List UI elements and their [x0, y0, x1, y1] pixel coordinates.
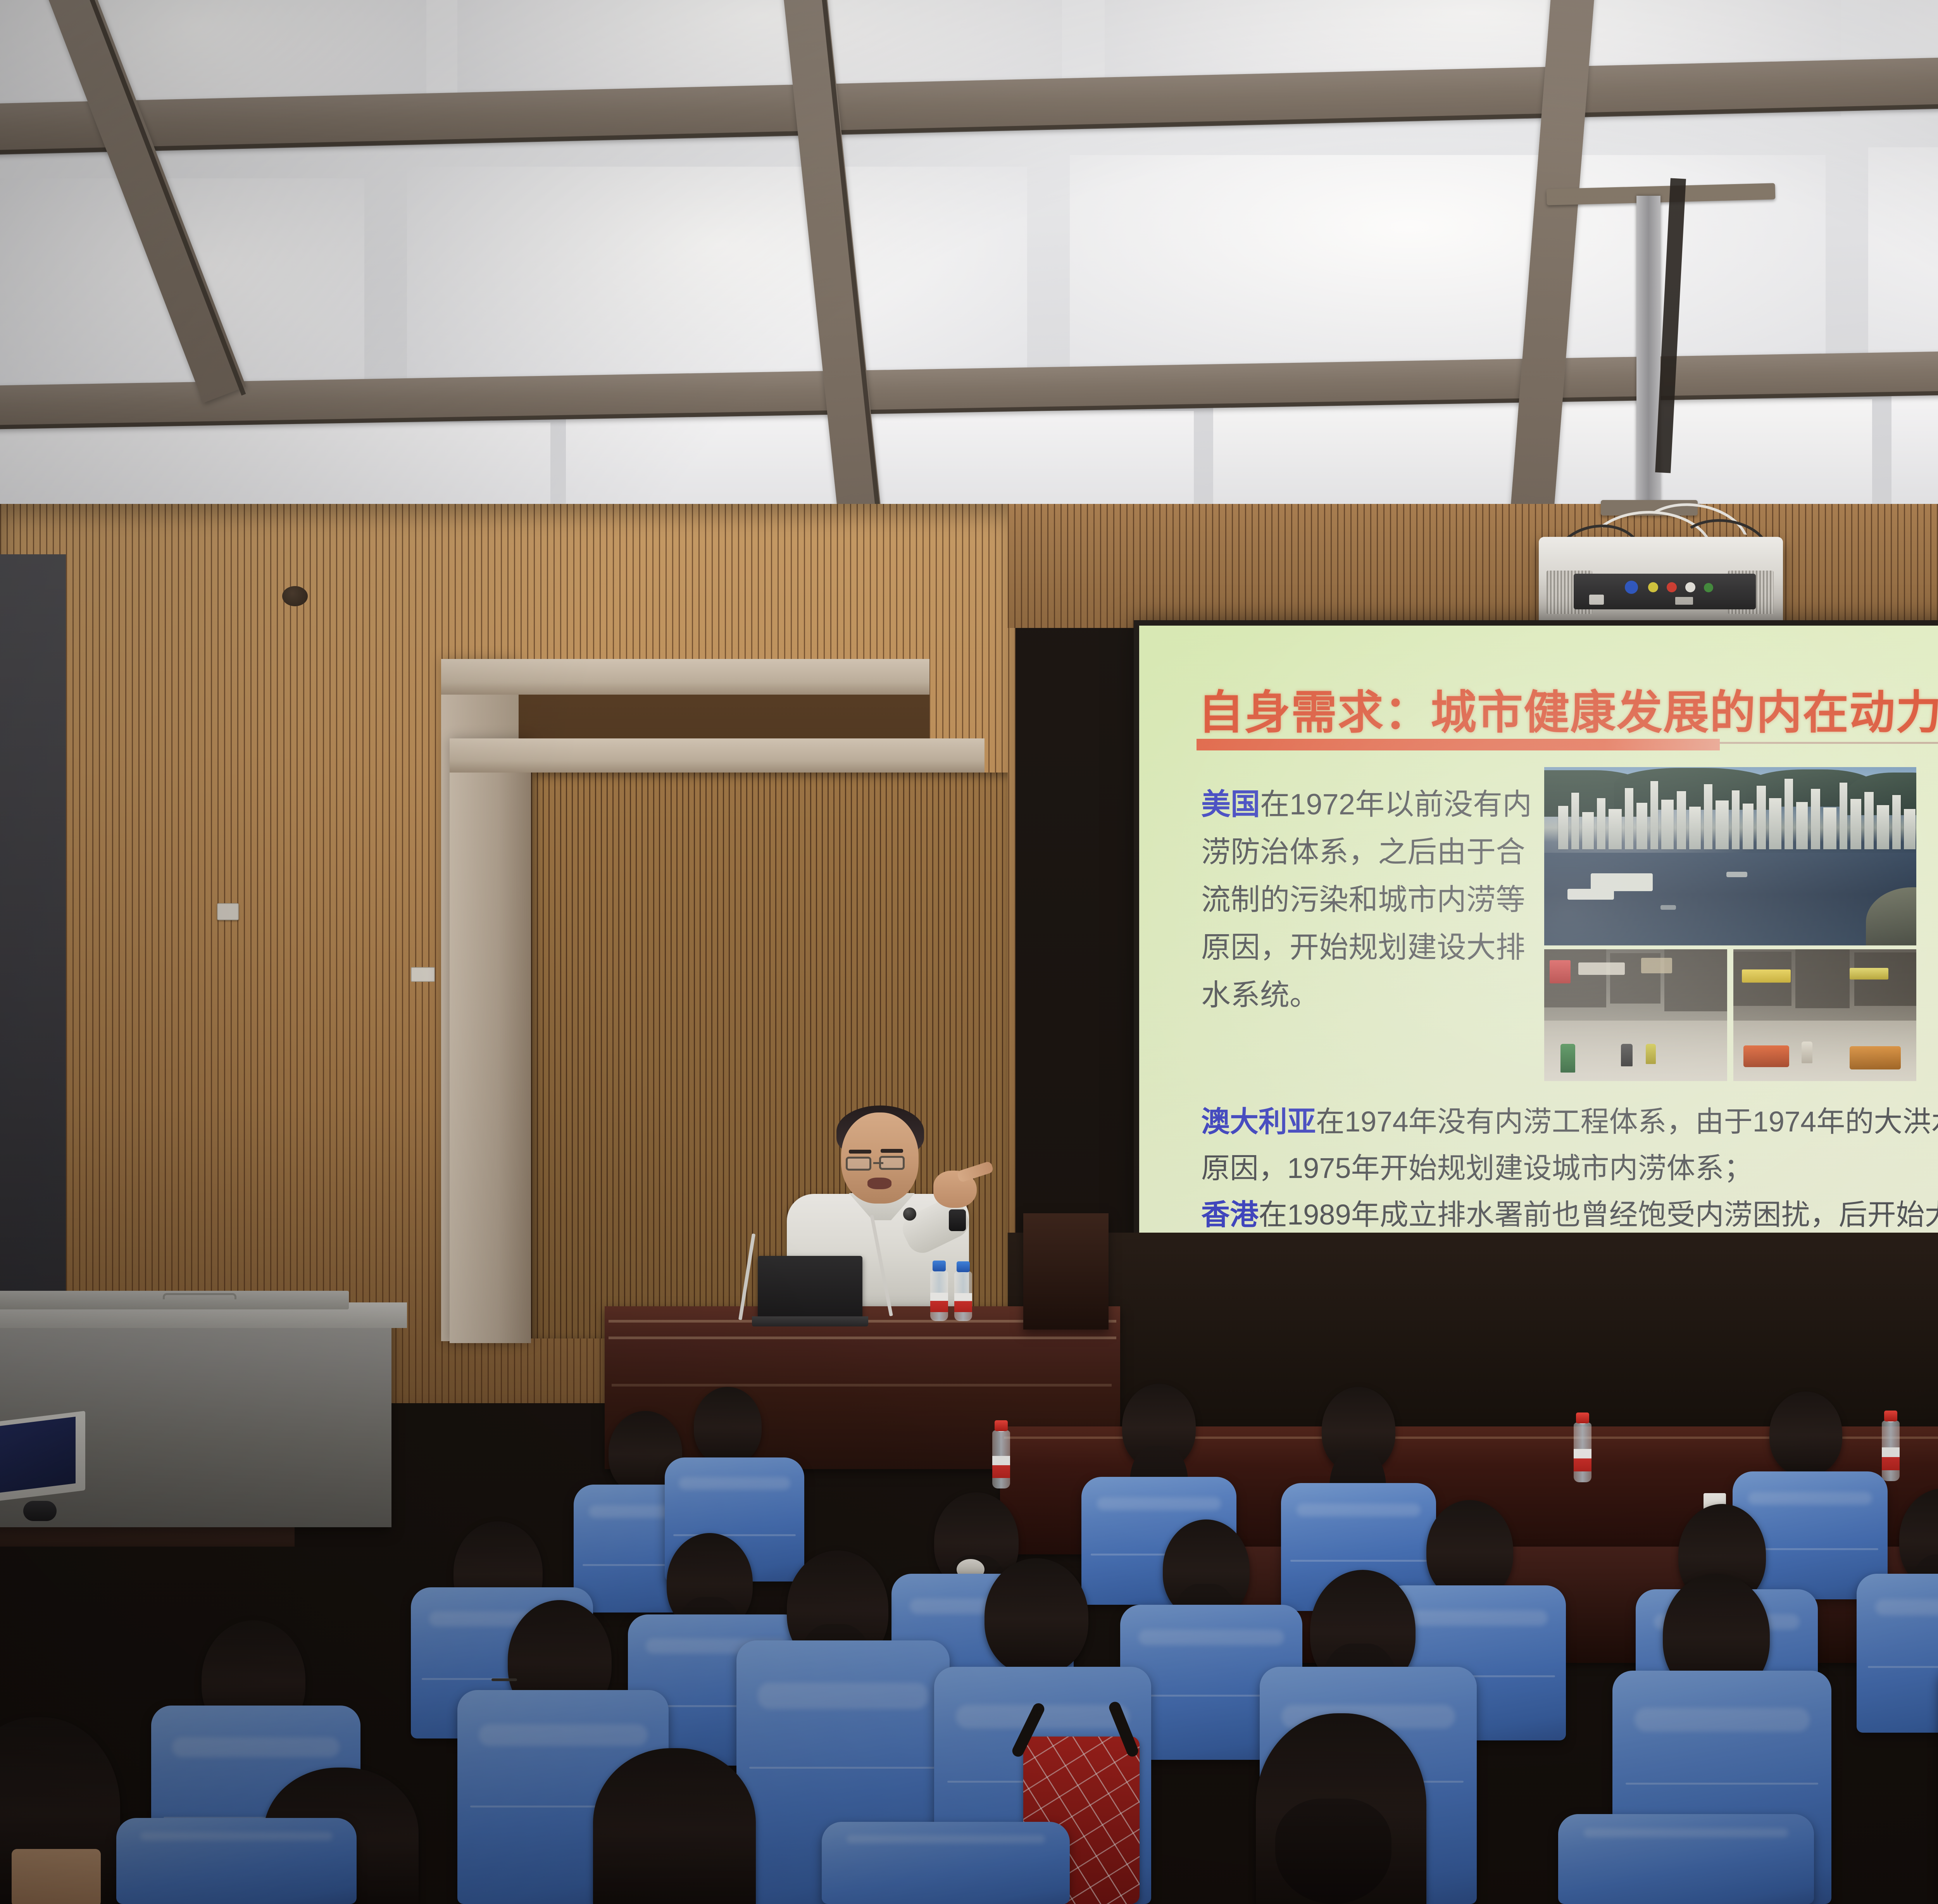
audience-chair-foreground — [1558, 1814, 1814, 1904]
slide-image-collage — [1544, 767, 1916, 1081]
wall-panel-center-top — [1008, 504, 1938, 628]
projector-port-vga — [1625, 581, 1638, 594]
projector-port-rca — [1704, 583, 1713, 592]
presenter-index-finger — [957, 1161, 994, 1183]
presenter-bottle-1 — [930, 1271, 948, 1321]
slide-title-underline — [1197, 739, 1720, 750]
eyeglasses-bridge — [873, 1162, 883, 1164]
audience-head — [985, 1558, 1088, 1675]
wall-speaker-icon — [282, 586, 308, 606]
lintel-screen-left — [450, 738, 985, 773]
audience-neck-foreground — [12, 1849, 101, 1904]
audience-bottle-3 — [1574, 1423, 1591, 1482]
projector-port-video — [1667, 582, 1677, 592]
column-screen-left — [450, 738, 531, 1343]
hong-kong-harbour-skyline-image — [1544, 767, 1916, 945]
audience-chair-foreground — [822, 1822, 1070, 1904]
slide-paragraph-1: 美国在1972年以前没有内涝防治体系，之后由于合流制的污染和城市内涝等原因，开始… — [1201, 781, 1538, 1019]
console-laptop-screen — [0, 1417, 76, 1494]
presenter-mouth — [867, 1178, 891, 1189]
console-handle[interactable] — [163, 1293, 236, 1299]
microphone-head — [903, 1207, 916, 1221]
projector-port-svideo — [1685, 582, 1695, 592]
light-switch-icon[interactable] — [411, 967, 435, 982]
presenter-laptop-base — [752, 1316, 868, 1326]
audience-hair-foreground — [1275, 1799, 1391, 1904]
presenter-brow-right — [881, 1149, 903, 1153]
lecture-hall-scene: 自身需求：城市健康发展的内在动力 美国在1972年以前没有内涝防治体系，之后由于… — [0, 0, 1938, 1904]
flooded-street-right-image — [1733, 949, 1916, 1081]
wristwatch-icon — [949, 1209, 966, 1231]
audience-chair — [1857, 1574, 1938, 1733]
curtain-left — [0, 554, 66, 1333]
lintel-left — [441, 659, 929, 695]
presenter-laptop[interactable] — [758, 1256, 862, 1318]
audience-head — [694, 1387, 762, 1464]
audience-chair-foreground — [116, 1818, 357, 1904]
presenter-table-edge-3 — [612, 1384, 1112, 1387]
power-outlet-icon — [217, 903, 239, 920]
projector-port-usb — [1675, 597, 1693, 605]
side-table-right — [1023, 1213, 1109, 1330]
audience-head — [1769, 1392, 1842, 1475]
eyeglasses-icon-left — [846, 1157, 871, 1171]
audience-bottle-1 — [992, 1430, 1010, 1488]
slide-paragraph-1-highlight: 美国 — [1201, 788, 1260, 821]
eyeglasses-icon — [491, 1678, 517, 1681]
slide-title-underline-thin — [1720, 742, 1938, 744]
audience-bottle-4 — [1882, 1421, 1900, 1481]
slide-title: 自身需求：城市健康发展的内在动力 — [1198, 675, 1935, 742]
presenter-table-edge-2 — [609, 1337, 1116, 1339]
slide-paragraph-2-highlight: 澳大利亚 — [1201, 1105, 1316, 1138]
presenter-brow-left — [849, 1150, 871, 1154]
audience-head-foreground — [593, 1748, 756, 1904]
flooded-street-left-image — [1544, 949, 1727, 1081]
console-mouse[interactable] — [23, 1501, 57, 1521]
presenter-bottle-2 — [954, 1271, 972, 1321]
slide-paragraph-1-text: 在1972年以前没有内涝防治体系，之后由于合流制的污染和城市内涝等原因，开始规划… — [1201, 788, 1532, 1012]
projector-port-audio — [1648, 582, 1658, 592]
slide-paragraph-3-highlight: 香港 — [1201, 1199, 1259, 1231]
projector-port-lan — [1589, 595, 1604, 605]
slide-paragraph-2: 澳大利亚在1974年没有内涝工程体系，由于1974年的大洪水等原因，1975年开… — [1201, 1099, 1938, 1192]
